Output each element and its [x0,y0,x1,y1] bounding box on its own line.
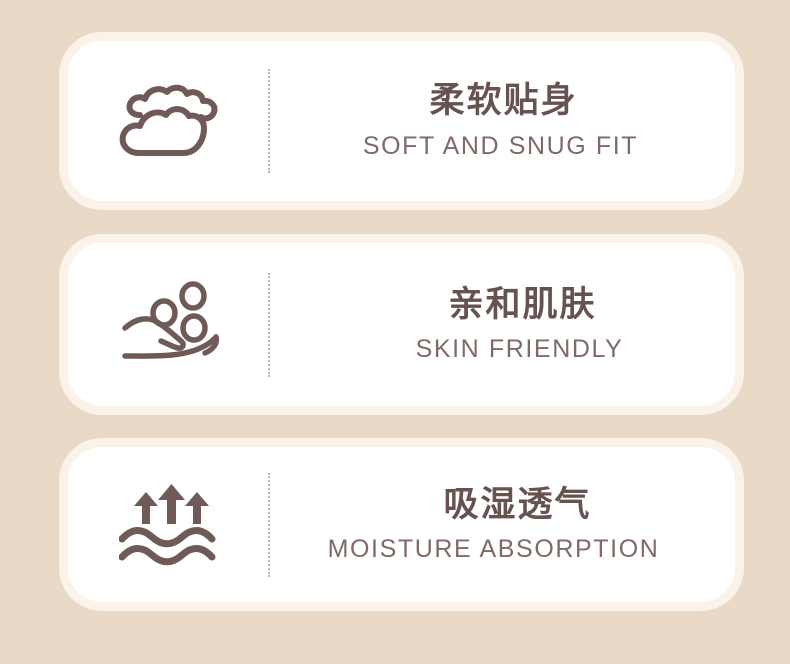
feature-title-en: SOFT AND SNUG FIT [363,131,638,161]
card-divider [268,69,270,173]
card-divider [268,473,270,577]
feature-text-block: 吸湿透气 MOISTURE ABSORPTION [270,485,735,564]
feature-title-en: SKIN FRIENDLY [416,334,624,364]
feature-title-en: MOISTURE ABSORPTION [328,534,660,564]
feature-title-cn: 吸湿透气 [443,485,591,524]
feature-list-page: 柔软贴身 SOFT AND SNUG FIT 亲和肌肤 SKIN FRIENDL… [0,0,790,664]
hand-with-bubbles-icon [68,281,268,369]
arrows-over-waves-icon [68,484,268,566]
feature-title-cn: 亲和肌肤 [448,285,596,324]
feature-text-block: 柔软贴身 SOFT AND SNUG FIT [270,81,735,160]
feature-text-block: 亲和肌肤 SKIN FRIENDLY [270,285,735,364]
feature-card-soft-and-snug-fit: 柔软贴身 SOFT AND SNUG FIT [68,41,735,201]
cloud-icon [68,81,268,161]
card-divider [268,273,270,377]
feature-title-cn: 柔软贴身 [429,81,577,120]
feature-card-skin-friendly: 亲和肌肤 SKIN FRIENDLY [68,243,735,406]
feature-card-moisture-absorption: 吸湿透气 MOISTURE ABSORPTION [68,447,735,602]
